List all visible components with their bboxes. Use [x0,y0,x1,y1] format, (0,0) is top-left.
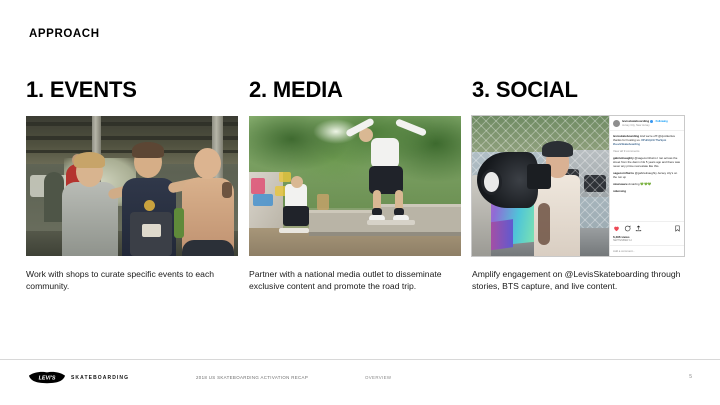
comment-author[interactable]: slowsauce [613,182,628,186]
heart-icon[interactable] [613,225,620,232]
graffiti [251,178,265,194]
comment-author[interactable]: ndunsing [613,189,626,193]
instagram-photo [472,116,609,256]
bag-label [142,224,161,237]
footer-deck-title: 2018 US SKATEBOARDING ACTIVATION RECAP [196,375,308,380]
footer-section-label: OVERVIEW [365,375,391,380]
footer-page-number: 5 [689,374,692,380]
verified-badge-icon [650,120,653,123]
megaphone-cone [484,172,499,192]
add-comment-placeholder: Add a comment... [613,249,635,253]
background-person [44,172,64,222]
graffiti [253,194,273,206]
tattoo [222,182,232,198]
brand-wordmark: SKATEBOARDING [71,375,129,381]
column-title: 3. SOCIAL [472,78,684,102]
megaphone-handle [527,164,552,189]
instagram-caption: levisskateboarding And we're off! @cjcol… [613,134,681,146]
slide-footer: LEVI'S SKATEBOARDING 2018 US SKATEBOARDI… [0,359,720,405]
instagram-handle[interactable]: levisskateboarding [622,119,649,123]
column-caption: Amplify engagement on @LevisSkateboardin… [472,268,684,293]
subject-cap [542,141,574,156]
column-social: 3. SOCIAL [472,78,684,293]
ceiling-beam [26,136,238,140]
avatar[interactable] [613,120,620,127]
footer-divider [0,359,720,360]
add-comment-field[interactable]: Add a comment... [610,245,684,256]
comment-item: sagecornfturns @gabrielnaughty Jersey ci… [613,171,681,179]
levis-logo-icon: LEVI'S [28,371,66,384]
column-events: 1. EVENTS [26,78,238,293]
skateboard-airborne [367,220,415,225]
instagram-header: levisskateboarding · Following Jersey Ci… [610,116,684,131]
share-icon[interactable] [635,225,642,232]
comment-icon[interactable] [624,225,631,232]
instagram-comments-list[interactable]: levisskateboarding And we're off! @cjcol… [610,131,684,221]
skateboard [279,228,309,233]
skater-middle-hair [132,142,164,158]
instagram-panel: levisskateboarding · Following Jersey Ci… [609,116,684,256]
comment-item: gabrielnaughty @sagecornfturns I ran acr… [613,156,681,168]
skater-left-hair [74,152,105,168]
slide-root: APPROACH 1. EVENTS [0,0,720,405]
ceiling-beam [26,122,238,126]
comment-item: ndunsing [613,189,681,193]
arm-tattoo [538,203,550,245]
bookmark-icon[interactable] [674,225,681,232]
chest-logo [144,200,155,211]
brand-lockup: LEVI'S SKATEBOARDING [28,371,129,384]
view-all-comments-link[interactable]: View all 9 comments [613,149,681,153]
seated-skater-head [291,176,303,188]
trash-can [317,194,329,210]
column-media: 2. MEDIA [249,78,461,293]
beer-bottle [174,208,184,238]
columns-container: 1. EVENTS [26,78,690,293]
skater-right-shorts [182,240,234,256]
comment-emoji: 💚💚💚 [640,182,651,186]
instagram-location[interactable]: Jersey City, New Jersey [622,124,681,128]
column-title: 1. EVENTS [26,78,238,102]
page-title: APPROACH [29,28,100,40]
comment-item: slowsauce Amazing 💚💚💚 [613,182,681,186]
photo-social: levisskateboarding · Following Jersey Ci… [472,116,684,256]
column-title: 2. MEDIA [249,78,461,102]
seated-skater-legs [283,206,309,226]
svg-text:LEVI'S: LEVI'S [39,376,56,382]
comment-text: Amazing [628,182,639,186]
column-caption: Partner with a national media outlet to … [249,268,461,293]
skater-torso [371,138,399,168]
instagram-action-bar [610,221,684,235]
photo-media [249,116,461,256]
sign [279,172,291,182]
column-caption: Work with shops to curate specific event… [26,268,238,293]
skater-right-head [194,148,221,179]
following-button[interactable]: Following [656,120,668,123]
photo-events [26,116,238,256]
